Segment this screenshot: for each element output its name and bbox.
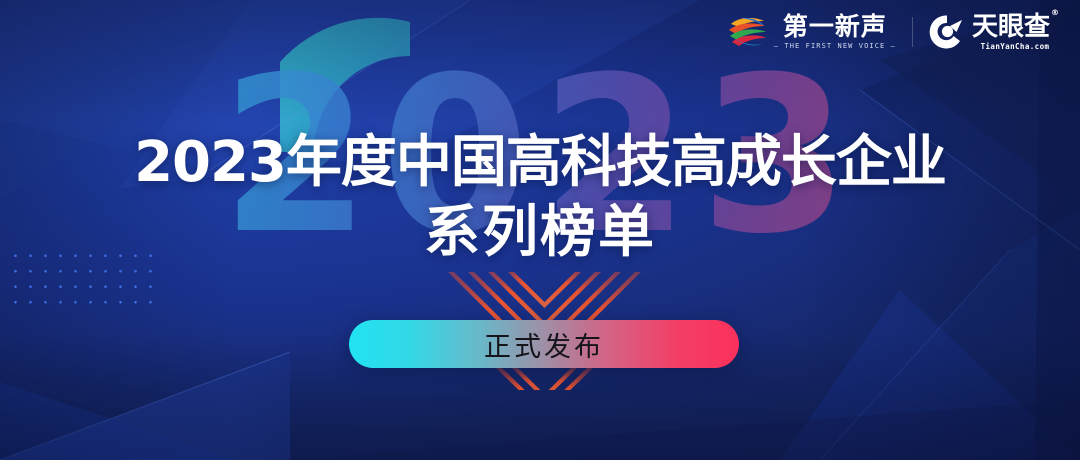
tianyancha-name: 天眼查® [972, 14, 1058, 40]
tianyancha-logo[interactable]: 天眼查® TianYanCha.com [929, 14, 1058, 51]
first-new-voice-logo-icon [727, 15, 767, 49]
logo-divider [912, 17, 913, 47]
trademark-symbol: ® [1051, 8, 1059, 17]
first-new-voice-tagline: — THE FIRST NEW VOICE — [774, 43, 896, 50]
tianyancha-tagline: TianYanCha.com [981, 43, 1050, 51]
logo-bar: 第一新声 — THE FIRST NEW VOICE — 天眼查® TianYa… [727, 14, 1058, 51]
headline: 2023年度中国高科技高成长企业 系列榜单 [0, 128, 1080, 268]
tianyancha-logo-icon [929, 14, 965, 50]
first-new-voice-name: 第一新声 [783, 14, 887, 39]
headline-line-2: 系列榜单 [0, 198, 1080, 268]
promotional-banner: 2023 2023年度中国高科技高成长企业 [0, 0, 1080, 460]
first-new-voice-logo-text: 第一新声 — THE FIRST NEW VOICE — [774, 14, 896, 50]
first-new-voice-logo[interactable]: 第一新声 — THE FIRST NEW VOICE — [727, 14, 896, 50]
tianyancha-name-cn: 天眼查 [972, 12, 1050, 42]
headline-line-1: 2023年度中国高科技高成长企业 [0, 128, 1080, 198]
tianyancha-logo-text: 天眼查® TianYanCha.com [972, 14, 1058, 51]
release-status-label: 正式发布 [484, 325, 604, 364]
release-status-pill[interactable]: 正式发布 [349, 320, 739, 368]
